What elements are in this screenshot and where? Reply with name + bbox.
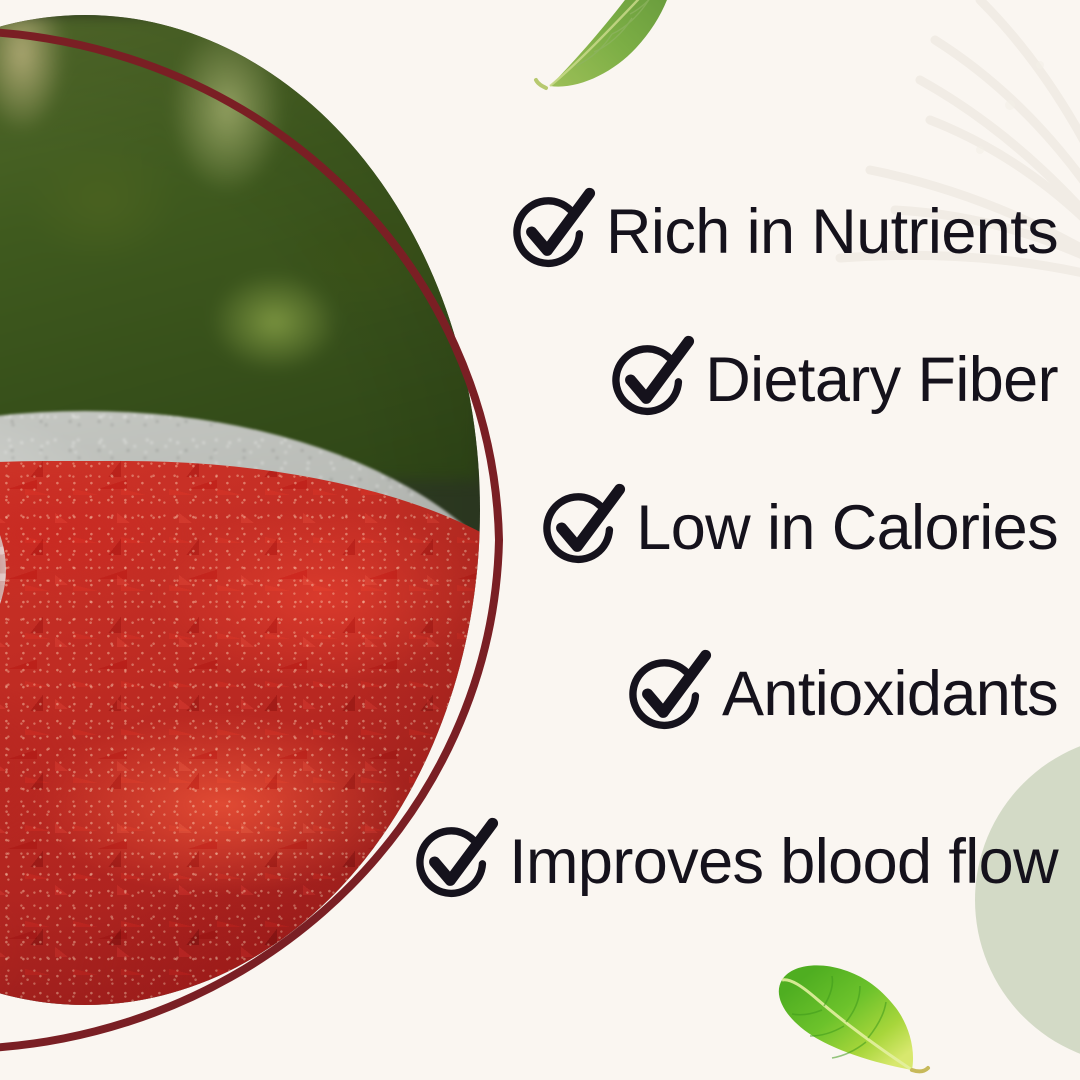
check-circle-icon (504, 186, 596, 278)
check-circle-icon (407, 816, 499, 908)
benefit-label: Improves blood flow (509, 831, 1058, 894)
check-circle-icon (534, 482, 626, 574)
poster-canvas: Rich in Nutrients Dietary Fiber Low in C… (0, 0, 1080, 1080)
mint-leaf-icon (762, 952, 952, 1080)
benefit-item-improves-blood-flow: Improves blood flow (407, 816, 1058, 908)
bay-leaf-icon (520, 0, 680, 91)
benefits-list: Rich in Nutrients Dietary Fiber Low in C… (380, 186, 1080, 926)
check-circle-icon (603, 334, 695, 426)
benefit-item-low-in-calories: Low in Calories (534, 482, 1058, 574)
check-circle-icon (620, 648, 712, 740)
benefit-item-dietary-fiber: Dietary Fiber (603, 334, 1058, 426)
benefit-item-rich-in-nutrients: Rich in Nutrients (504, 186, 1058, 278)
benefit-label: Low in Calories (636, 497, 1058, 560)
benefit-label: Rich in Nutrients (606, 201, 1058, 264)
benefit-label: Antioxidants (722, 663, 1058, 726)
benefit-label: Dietary Fiber (705, 349, 1058, 412)
benefit-item-antioxidants: Antioxidants (620, 648, 1058, 740)
